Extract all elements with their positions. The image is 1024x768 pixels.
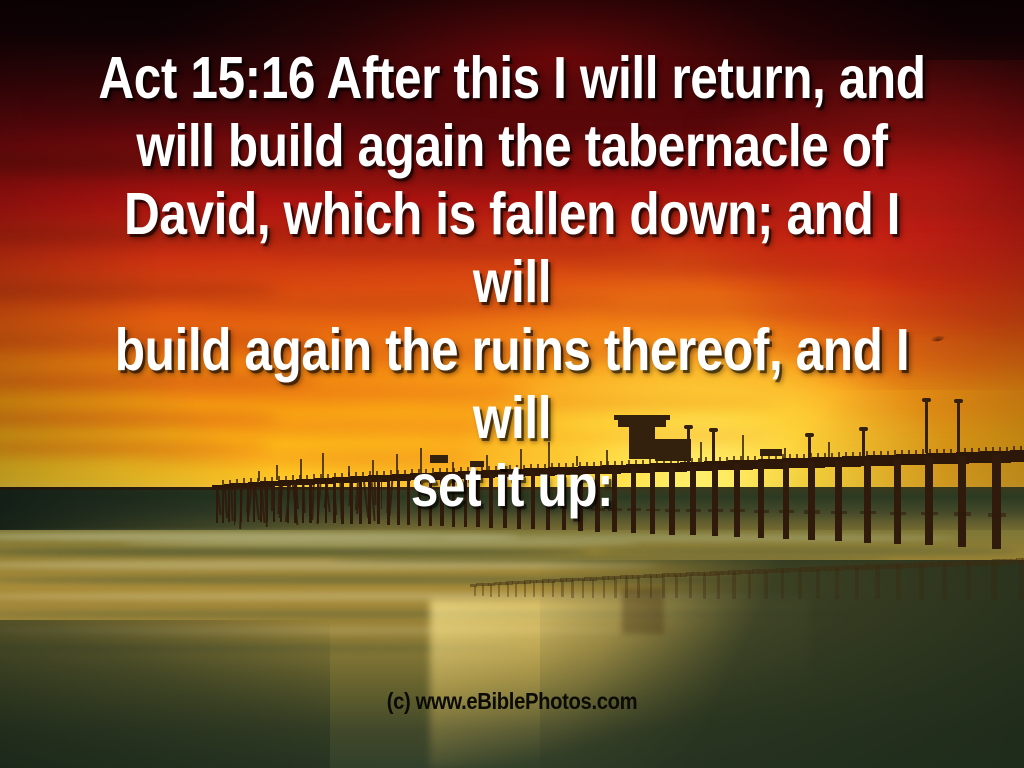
- pier-railing-post: [950, 449, 952, 454]
- pier-railing-post: [1013, 446, 1015, 451]
- pier-reflection-piling: [582, 579, 584, 597]
- pier-reflection-piling: [816, 569, 820, 600]
- pier-cross-brace: [988, 513, 1006, 517]
- pier-reflection-piling: [515, 583, 517, 597]
- pier-lamp-post: [957, 402, 960, 452]
- pier-reflection-piling: [507, 583, 509, 596]
- verse-text: Act 15:16 After this I will return, and …: [82, 44, 942, 520]
- pier-railing-post: [971, 448, 973, 453]
- pier-reflection-piling: [835, 568, 839, 599]
- pier-reflection-tower: [622, 588, 664, 634]
- pier-reflection-piling: [592, 579, 594, 598]
- pier-railing-post: [999, 447, 1001, 452]
- pier-reflection-piling: [482, 585, 484, 596]
- pier-reflection-piling: [490, 584, 492, 596]
- pier-reflection-piling: [717, 573, 720, 599]
- pier-railing-post: [1020, 446, 1022, 451]
- pier-reflection-piling: [748, 572, 752, 599]
- pier-reflection-piling: [875, 566, 880, 599]
- pier-railing-post: [985, 447, 987, 452]
- pier-railing-post: [1006, 447, 1008, 452]
- pier-reflection-piling: [603, 578, 605, 598]
- pier-reflection-piling: [732, 572, 735, 598]
- pier-piling: [958, 456, 966, 547]
- verse-image-canvas: Act 15:16 After this I will return, and …: [0, 0, 1024, 768]
- pier-reflection-piling: [991, 561, 997, 600]
- pier-reflection-piling: [533, 582, 535, 597]
- pier-reflection-piling: [689, 574, 692, 598]
- wave-foam-line: [600, 548, 1020, 555]
- pier-reflection-piling: [524, 582, 526, 597]
- pier-reflection-piling: [474, 586, 476, 597]
- pier-reflection-piling: [798, 569, 802, 599]
- pier-reflection-piling: [703, 574, 706, 599]
- pier-piling: [992, 455, 1001, 548]
- pier-lamp-head: [954, 399, 963, 403]
- pier-reflection-piling: [942, 563, 947, 599]
- pier-reflection-piling: [614, 578, 617, 598]
- pier-reflection-piling: [498, 584, 500, 597]
- wave-foam-line: [440, 534, 960, 542]
- pier-reflection-piling: [571, 580, 573, 598]
- pier-reflection-piling: [966, 562, 971, 599]
- pier-reflection-piling: [919, 564, 924, 599]
- pier-reflection-piling: [675, 575, 678, 599]
- pier-railing-post: [943, 449, 945, 454]
- pier-railing-post: [992, 447, 994, 452]
- pier-railing-post: [964, 448, 966, 453]
- watermark-credit: (c) www.eBiblePhotos.com: [61, 688, 962, 715]
- pier-reflection-piling: [542, 581, 544, 597]
- pier-cross-brace: [954, 512, 971, 516]
- pier-reflection-piling: [764, 571, 768, 599]
- pier-reflection-piling: [896, 565, 901, 599]
- pier-reflection-piling: [855, 567, 859, 599]
- pier-reflection-piling: [552, 581, 554, 597]
- pier-reflection-piling: [561, 580, 563, 597]
- pier-reflection-piling: [781, 570, 785, 599]
- pier-railing-post: [978, 448, 980, 453]
- pier-reflection-piling: [1018, 560, 1024, 600]
- wave-foam-line: [0, 548, 590, 556]
